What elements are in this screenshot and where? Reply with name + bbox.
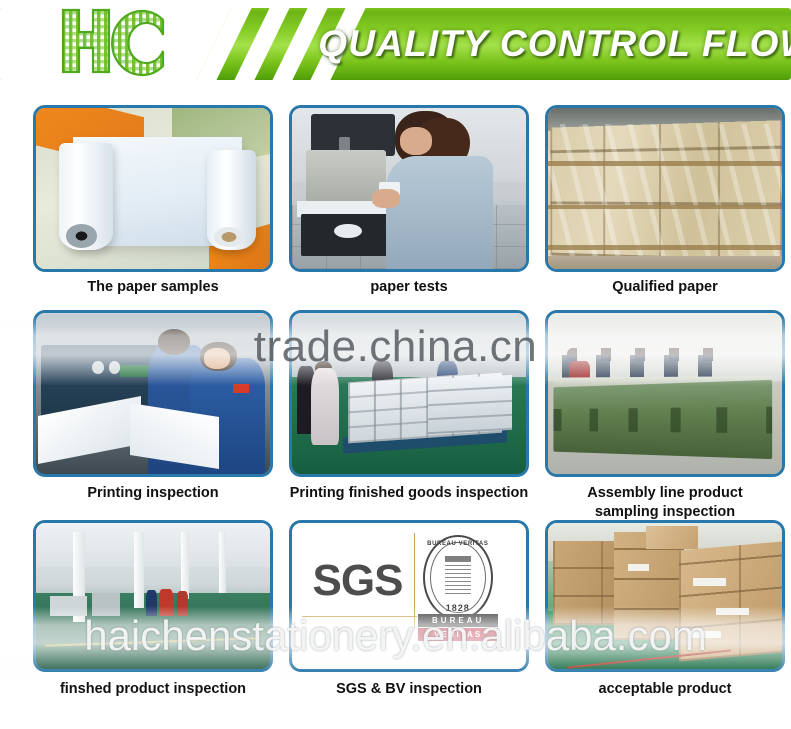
grid-cell-9[interactable]: acceptable product — [545, 520, 785, 720]
page-title: QUALITY CONTROL FLOW — [352, 8, 782, 80]
paper-tests-photo[interactable] — [289, 105, 529, 272]
factory-hall-scene — [36, 523, 270, 669]
caption-8: SGS & BV inspection — [289, 680, 529, 699]
paper-samples-photo[interactable] — [33, 105, 273, 272]
certification-logos-scene: SGS BUREAU VERITAS 1828 BUREAU VERITAS — [292, 523, 526, 669]
finished-goods-photo[interactable] — [289, 310, 529, 477]
sgs-logo-icon: SGS — [306, 549, 409, 613]
lab-technician-scene — [292, 108, 526, 269]
acceptable-product-photo[interactable] — [545, 520, 785, 672]
warehouse-pallets-scene — [548, 108, 782, 269]
page-header: QUALITY CONTROL FLOW — [0, 0, 791, 88]
bureau-veritas-logo-icon: BUREAU VERITAS 1828 — [423, 535, 493, 621]
finished-goods-warehouse-scene — [292, 313, 526, 474]
caption-9: acceptable product — [545, 680, 785, 699]
caption-1: The paper samples — [33, 278, 273, 297]
hc-logo-icon — [55, 4, 167, 82]
caption-4: Printing inspection — [33, 484, 273, 503]
grid-cell-6[interactable]: Assembly line product sampling inspectio… — [545, 310, 785, 512]
grid-cell-4[interactable]: Printing inspection — [33, 310, 273, 512]
caption-5: Printing finished goods inspection — [279, 484, 539, 503]
assembly-line-scene — [548, 313, 782, 474]
grid-cell-7[interactable]: finshed product inspection — [33, 520, 273, 720]
caption-3: Qualified paper — [545, 278, 785, 297]
caption-2: paper tests — [289, 278, 529, 297]
certification-logos-photo[interactable]: SGS BUREAU VERITAS 1828 BUREAU VERITAS — [289, 520, 529, 672]
grid-cell-8[interactable]: SGS BUREAU VERITAS 1828 BUREAU VERITAS S… — [289, 520, 529, 720]
finished-product-inspection-photo[interactable] — [33, 520, 273, 672]
grid-cell-2[interactable]: paper tests — [289, 105, 529, 305]
bv-oval-text: BUREAU VERITAS — [425, 541, 491, 547]
sgs-label: SGS — [306, 549, 409, 613]
caption-6: Assembly line product sampling inspectio… — [545, 484, 785, 521]
quality-control-grid: The paper samples paper tests Qualified … — [0, 88, 791, 729]
paper-rolls-scene — [36, 108, 270, 269]
assembly-line-photo[interactable] — [545, 310, 785, 477]
bv-year: 1828 — [425, 603, 491, 613]
qualified-paper-photo[interactable] — [545, 105, 785, 272]
carton-boxes-scene — [548, 523, 782, 669]
caption-7: finshed product inspection — [33, 680, 273, 699]
bv-wordmark-2: VERITAS — [418, 628, 498, 641]
grid-cell-3[interactable]: Qualified paper — [545, 105, 785, 305]
bv-figure-icon — [445, 556, 471, 594]
grid-cell-5[interactable]: Printing finished goods inspection — [289, 310, 529, 512]
printing-inspection-photo[interactable] — [33, 310, 273, 477]
grid-cell-1[interactable]: The paper samples — [33, 105, 273, 305]
bv-wordmark-1: BUREAU — [418, 614, 498, 627]
printing-workers-scene — [36, 313, 270, 474]
